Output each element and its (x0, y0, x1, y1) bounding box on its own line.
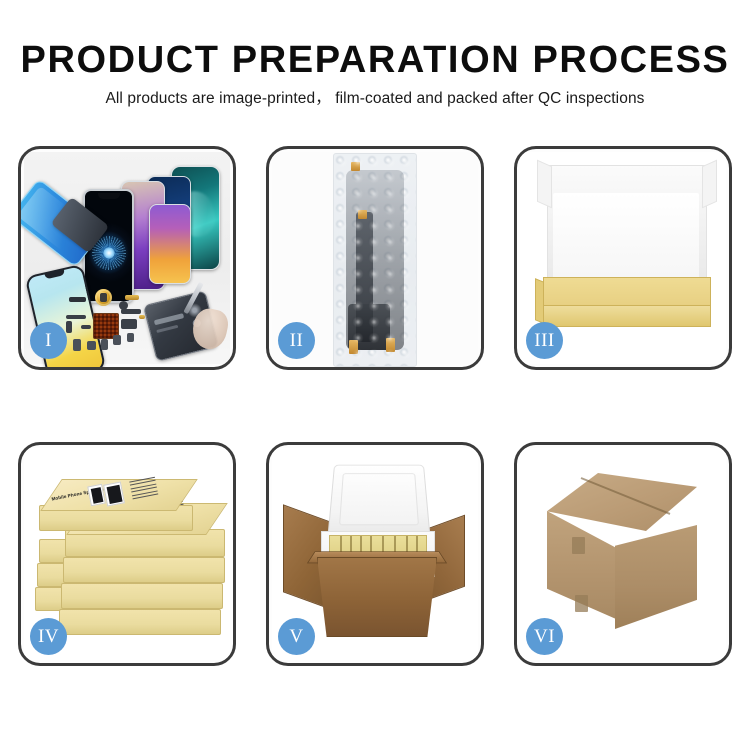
part-gold-coil (95, 289, 112, 306)
page-header: PRODUCT PREPARATION PROCESS All products… (0, 0, 750, 109)
carton-tape-lower (575, 595, 588, 612)
box-label-thumb-back-2 (103, 481, 125, 506)
part-gold-chip (139, 315, 145, 319)
step-badge-2: II (278, 322, 315, 359)
step-badge-3: III (526, 322, 563, 359)
part-board-module (121, 319, 137, 329)
part-flex-cable-3 (81, 325, 91, 329)
step-badge-1: I (30, 322, 67, 359)
part-black-bar (69, 297, 86, 302)
tape-tab-mid (358, 210, 367, 219)
tape-tab-top (351, 162, 360, 171)
step-panel-5[interactable]: V (266, 442, 484, 666)
screen-burst-core (103, 247, 114, 258)
tape-tab-bottom-left (349, 340, 358, 354)
part-gold-connector (125, 295, 139, 300)
step-panel-4[interactable]: Mobile Phone Spare Parts Mobile Phone Sp… (18, 442, 236, 666)
housing-strip-2 (156, 325, 178, 333)
step-badge-4: IV (30, 618, 67, 655)
page-title: PRODUCT PREPARATION PROCESS (0, 0, 750, 82)
step-panel-1[interactable]: I (18, 146, 236, 370)
stacked-box-front-3 (59, 609, 221, 635)
part-small-square-1 (73, 339, 81, 351)
step-panel-3[interactable]: III (514, 146, 732, 370)
bubble-wrap-pouch (333, 153, 417, 367)
part-small-square-4 (113, 335, 121, 345)
step-panel-2[interactable]: II (266, 146, 484, 370)
phone-large-notch-icon (44, 269, 65, 279)
step-badge-5: V (278, 618, 315, 655)
tape-tab-bottom-right (386, 338, 395, 352)
part-small-square-3 (101, 339, 108, 350)
phone-gold-gradient (149, 204, 191, 284)
stacked-box-front-2 (61, 583, 223, 609)
page-subtitle: All products are image-printed， film-coa… (0, 82, 750, 109)
part-small-square-2 (87, 341, 96, 350)
housing-strip-1 (154, 313, 184, 325)
part-flex-cable-4 (121, 309, 141, 314)
inner-box-front-face (543, 305, 711, 327)
carton-tape-upper (572, 537, 585, 554)
screen-notch-icon (98, 193, 120, 199)
process-step-grid: I II (18, 146, 732, 686)
inner-box-foam-sheet (553, 193, 699, 279)
part-flex-cable-2 (66, 321, 72, 333)
step-badge-6: VI (526, 618, 563, 655)
part-flex-cable-1 (66, 315, 86, 319)
stacked-box-front-1 (63, 557, 225, 583)
foam-lid (327, 465, 430, 536)
part-small-square-5 (127, 333, 134, 342)
step-panel-6[interactable]: VI (514, 442, 732, 666)
carton-body (317, 557, 437, 637)
